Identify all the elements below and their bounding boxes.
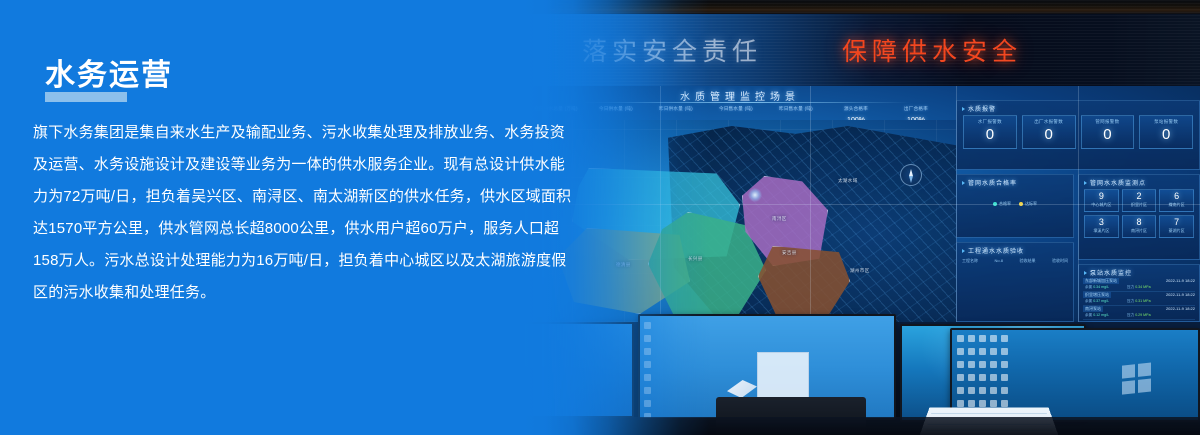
point-count: 7 [1160,218,1193,228]
desk-monitor-row [520,310,1200,435]
monitoring-point-cell: 2 织里片区 [1122,189,1157,212]
windows-logo-icon [1122,362,1152,395]
desk-surface [520,417,1200,435]
monitoring-point-grid: 9 中心城片区 2 织里片区 6 織南片区 3 [1084,189,1194,238]
alarm-card-label: 出厂水报警数 [1023,119,1075,125]
column-header: 验收时间 [1052,258,1068,264]
slogan-right: 保障供水安全 [842,32,1022,68]
kpi-item: 昨日售水量 (吨) [766,106,826,116]
alarm-card: 管网报警数 0 [1081,115,1135,149]
pump-name: 东部新城加压泵站 [1083,278,1119,284]
map-district-label: 安吉县 [782,250,797,256]
point-count: 9 [1085,192,1118,202]
kpi-label: 今日售水量 (吨) [719,106,753,111]
body-paragraph: 旗下水务集团是集自来水生产及输配业务、污水收集处理及排放业务、水务投资及运营、水… [33,117,575,309]
alarm-card-value: 0 [964,127,1016,144]
slogan-left: 落实安全责任 [582,32,762,68]
monitoring-point-cell: 3 埭溪片区 [1084,215,1119,238]
monitoring-point-cell: 9 中心城片区 [1084,189,1119,212]
alarm-card-value: 0 [1023,127,1075,144]
column-header: 验收结果 [1019,258,1035,264]
dashboard-title-rule [580,102,910,103]
alarm-card-value: 0 [1082,127,1134,144]
pump-timestamp: 2022-11-9 18:22 [1166,292,1195,297]
point-label: 埭溪片区 [1085,228,1118,234]
pump-metric-pressure: 压力 0.34 MPa [1127,285,1151,290]
water-operations-banner: 落实安全责任 保障供水安全 水质管理监控场景 今日供水总量 (万吨) 今日供水量… [0,0,1200,435]
led-slogan-wall: 落实安全责任 保障供水安全 [520,0,1200,92]
pump-metric-residual-chlorine: 余氯 0.34 mg/L [1085,285,1109,290]
point-count: 8 [1123,218,1156,228]
alarm-card: 泵站报警数 0 [1139,115,1193,149]
alarm-card-label: 泵站报警数 [1140,119,1192,125]
map-district-label: 南浔区 [772,216,787,222]
alarm-card-value: 0 [1140,127,1192,144]
acceptance-table-header: 工程名称 No.8 验收结果 验收时间 [962,258,1068,264]
kpi-label: 源头合格率 [844,106,868,111]
panel-network-quality-rate: 管网水质合格率 合格率 达标率 [956,174,1074,238]
panel-monitoring-points: 管网水水质监测点 9 中心城片区 2 织里片区 6 織南片区 [1078,174,1200,260]
panel-heading: 管网水水质监测点 [1084,178,1146,187]
column-header: 工程名称 [962,258,978,264]
pump-metric-pressure: 压力 0.31 MPa [1127,299,1151,304]
map-district-label: 长兴县 [688,256,703,262]
map-sea-label: 太湖水域 [838,178,858,184]
kpi-label: 今日供水量 (吨) [599,106,633,111]
ceiling-strip [520,0,1200,14]
point-label: 南浔片区 [1123,228,1156,234]
panel-heading: 工程通水水质验收 [962,246,1024,255]
point-count: 6 [1160,192,1193,202]
panel-heading: 水质报警 [962,104,996,113]
map-district-label: 德清县 [616,262,631,268]
kpi-item: 今日售水量 (吨) [706,106,766,116]
copy-column: 水务运营 旗下水务集团是集自来水生产及输配业务、污水收集处理及排放业务、水务投资… [0,0,600,435]
water-quality-dashboard: 水质管理监控场景 今日供水总量 (万吨) 今日供水量 (吨) 昨日供水量 (吨)… [520,86,1200,322]
alarm-card-label: 水厂报警数 [964,119,1016,125]
videowall-seam [520,204,1200,205]
kpi-item: 昨日供水量 (吨) [646,106,706,116]
pump-row: 织里增压泵站 2022-11-9 18:22 余氯 0.37 mg/L 压力 0… [1083,292,1195,306]
alarm-card: 水厂报警数 0 [963,115,1017,149]
point-count: 3 [1085,218,1118,228]
desktop-icon-column [644,322,652,420]
title-underline-rule [45,92,127,102]
alarm-card: 出厂水报警数 0 [1022,115,1076,149]
pump-name: 织里增压泵站 [1083,292,1111,298]
panel-heading: 泵站水质监控 [1084,268,1132,277]
panel-heading: 管网水质合格率 [962,178,1017,187]
pump-row: 东部新城加压泵站 2022-11-9 18:22 余氯 0.34 mg/L 压力… [1083,278,1195,292]
pump-metric-residual-chlorine: 余氯 0.37 mg/L [1085,299,1109,304]
compass-icon [900,164,922,186]
page-title: 水务运营 [45,50,173,94]
monitoring-point-cell: 6 織南片区 [1159,189,1194,212]
control-room-photo: 落实安全责任 保障供水安全 水质管理监控场景 今日供水总量 (万吨) 今日供水量… [520,0,1200,435]
monitoring-point-cell: 7 菱湖片区 [1159,215,1194,238]
folder-icon [727,380,757,398]
alarm-card-label: 管网报警数 [1082,119,1134,125]
kpi-label: 昨日供水量 (吨) [659,106,693,111]
column-header: No.8 [995,258,1003,264]
point-label: 菱湖片区 [1160,228,1193,234]
point-count: 2 [1123,192,1156,202]
map-sea-label: 湖州市区 [850,268,870,274]
kpi-label: 出厂合格率 [904,106,928,111]
kpi-label: 昨日售水量 (吨) [779,106,813,111]
monitoring-point-cell: 8 南浔片区 [1122,215,1157,238]
map-pulse-marker [748,188,762,202]
pump-timestamp: 2022-11-9 18:22 [1166,278,1195,283]
